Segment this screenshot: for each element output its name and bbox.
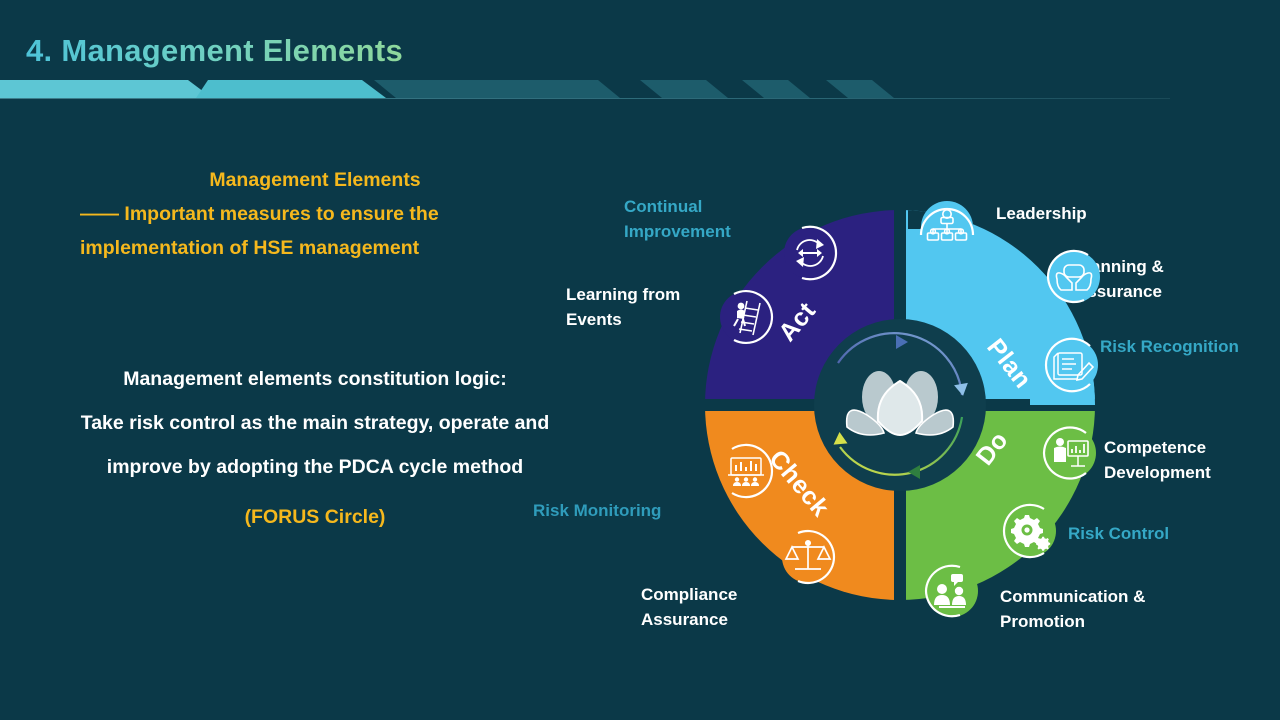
label-competence-development: Competence Development: [1104, 435, 1280, 485]
title-decoration-bar: [0, 78, 1180, 100]
element-badge-risk-control[interactable]: [1004, 505, 1056, 557]
element-badge-risk-monitoring[interactable]: [720, 445, 772, 497]
element-badge-compliance-assurance[interactable]: [782, 531, 834, 583]
headline-line-1: Management Elements: [80, 163, 550, 197]
element-badge-planning-assurance[interactable]: [1048, 251, 1100, 303]
label-risk-recognition: Risk Recognition: [1100, 334, 1239, 359]
element-badge-competence-development[interactable]: [1044, 427, 1096, 479]
page-title: 4. Management Elements: [26, 33, 403, 69]
label-competence-development-line2: Development: [1104, 460, 1280, 485]
header-divider: [0, 98, 1170, 99]
element-badge-communication-promotion[interactable]: [926, 565, 978, 617]
pdca-wheel-diagram: Plan Do Check Act: [690, 195, 1110, 625]
logic-block: Management elements constitution logic: …: [10, 357, 620, 539]
element-badge-leadership[interactable]: [921, 201, 973, 253]
element-badge-continual-improvement[interactable]: [784, 227, 836, 280]
label-risk-monitoring: Risk Monitoring: [533, 498, 661, 523]
logic-line-1: Management elements constitution logic:: [10, 357, 620, 401]
headline-line-3: implementation of HSE management: [80, 231, 550, 265]
headline-line-2: —— Important measures to ensure the: [80, 197, 550, 231]
element-badge-risk-recognition[interactable]: [1046, 339, 1098, 391]
slide-root: 4. Management Elements Management Elemen…: [0, 0, 1280, 720]
logic-line-3: improve by adopting the PDCA cycle metho…: [10, 445, 620, 489]
element-badge-learning-from-events[interactable]: [720, 291, 772, 343]
label-competence-development-line1: Competence: [1104, 435, 1280, 460]
headline-block: Management Elements —— Important measure…: [80, 163, 550, 265]
logic-line-4: (FORUS Circle): [10, 495, 620, 539]
logic-line-2: Take risk control as the main strategy, …: [10, 401, 620, 445]
